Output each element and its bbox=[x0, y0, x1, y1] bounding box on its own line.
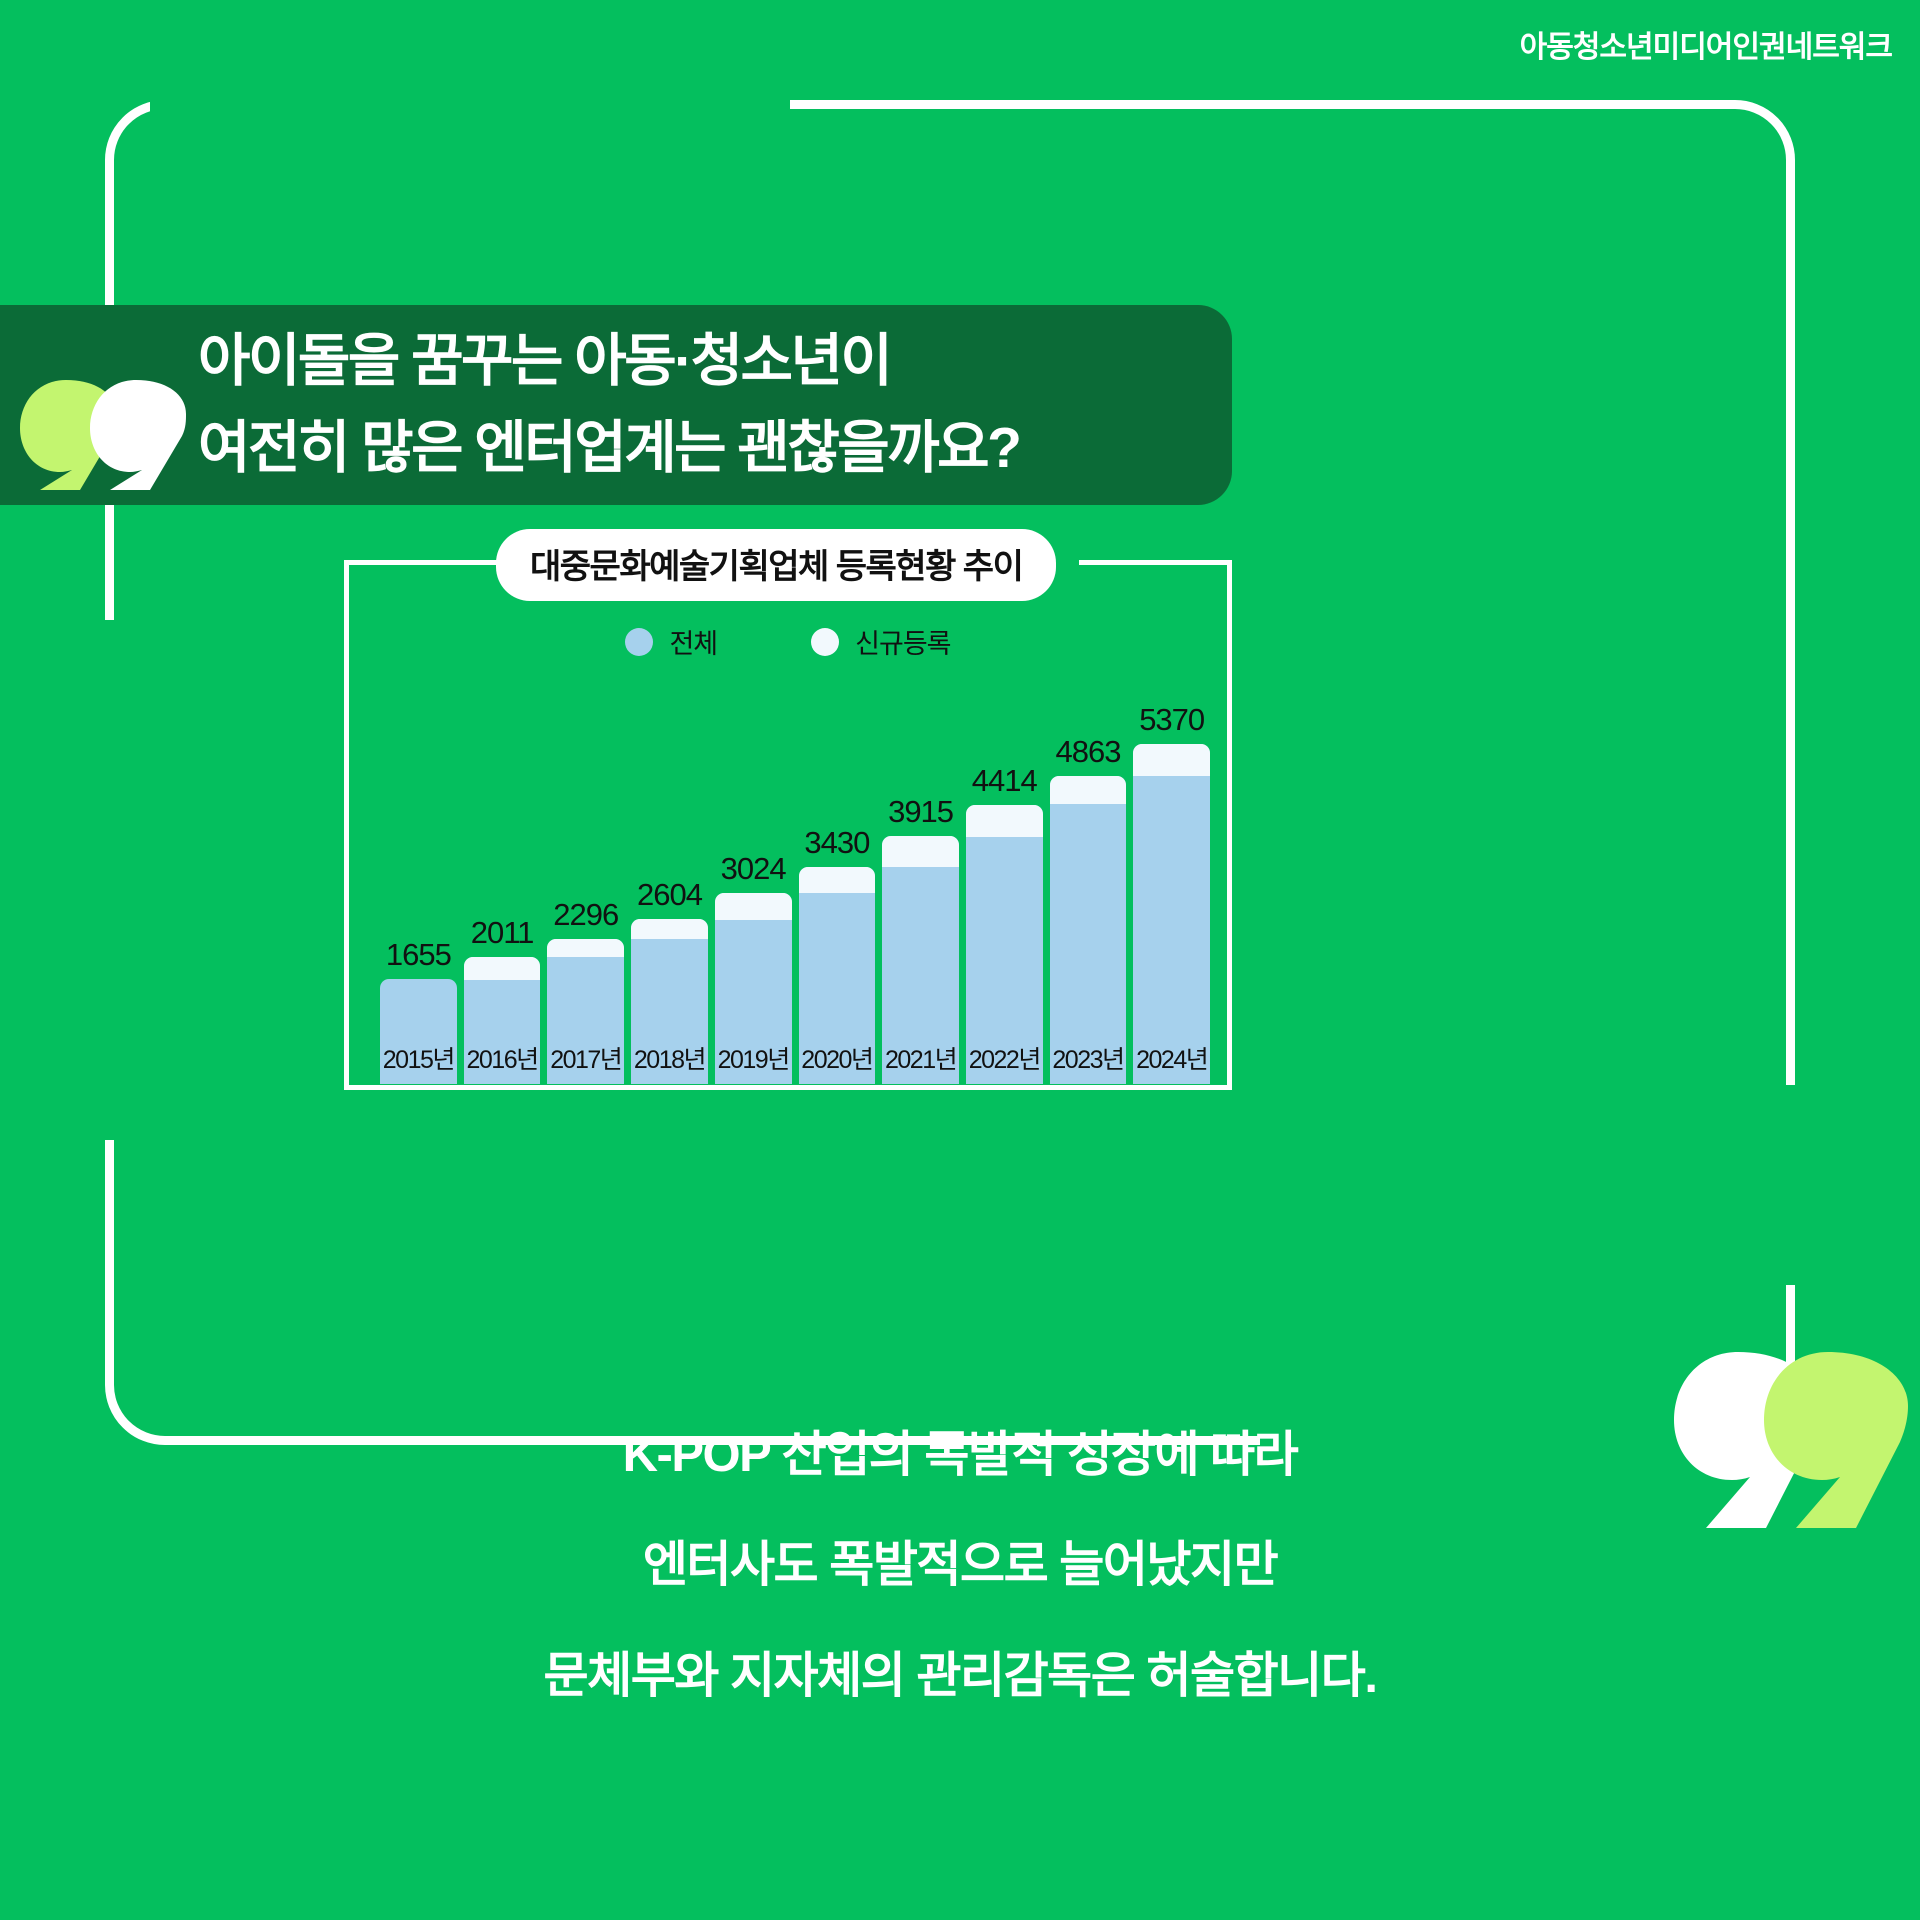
bar-column: 53702024년 bbox=[1133, 684, 1210, 1084]
caption-line-3: 문체부와 지자체의 관리감독은 허술합니다. bbox=[0, 1621, 1920, 1731]
bar: 2017년 bbox=[547, 939, 624, 1084]
chart-legend: 전체 신규등록 bbox=[344, 622, 1232, 661]
bar-value-label: 2604 bbox=[631, 877, 708, 913]
bar-value-label: 1655 bbox=[380, 937, 457, 973]
bar: 2023년 bbox=[1050, 776, 1127, 1084]
headline-text: 아이돌을 꿈꾸는 아동·청소년이 여전히 많은 엔터업계는 괜찮을까요? bbox=[198, 318, 1208, 491]
bar: 2021년 bbox=[882, 836, 959, 1084]
bar-segment-new bbox=[631, 919, 708, 939]
bar-column: 22962017년 bbox=[547, 684, 624, 1084]
quote-open-icon bbox=[18, 380, 188, 490]
chart-plot-area: 16552015년20112016년22962017년26042018년3024… bbox=[380, 684, 1210, 1084]
legend-label-total: 전체 bbox=[669, 622, 717, 661]
legend-dot-new bbox=[811, 628, 839, 656]
caption-block: K-POP 산업의 폭발적 성장에 따라 엔터사도 폭발적으로 늘어났지만 문체… bbox=[0, 1400, 1920, 1731]
frame-gap-right bbox=[1780, 1085, 1810, 1285]
bar-value-label: 4414 bbox=[966, 763, 1043, 799]
bar-segment-new bbox=[1133, 744, 1210, 776]
bar-column: 16552015년 bbox=[380, 684, 457, 1084]
bar-segment-new bbox=[547, 939, 624, 957]
bar-year-label: 2022년 bbox=[966, 1040, 1043, 1076]
bar-value-label: 2296 bbox=[547, 897, 624, 933]
bar: 2018년 bbox=[631, 919, 708, 1084]
bar-year-label: 2024년 bbox=[1133, 1040, 1210, 1076]
bar-year-label: 2020년 bbox=[799, 1040, 876, 1076]
bar-value-label: 2011 bbox=[464, 915, 541, 951]
bar-segment-new bbox=[966, 805, 1043, 837]
bar: 2020년 bbox=[799, 867, 876, 1084]
bar-column: 20112016년 bbox=[464, 684, 541, 1084]
caption-line-1: K-POP 산업의 폭발적 성장에 따라 bbox=[0, 1400, 1920, 1510]
frame-gap-top bbox=[150, 88, 790, 114]
bar-column: 44142022년 bbox=[966, 684, 1043, 1084]
bar-segment-new bbox=[799, 867, 876, 893]
bar-year-label: 2016년 bbox=[464, 1040, 541, 1076]
bar-column: 26042018년 bbox=[631, 684, 708, 1084]
caption-line-2: 엔터사도 폭발적으로 늘어났지만 bbox=[0, 1510, 1920, 1620]
headline-line-2: 여전히 많은 엔터업계는 괜찮을까요? bbox=[198, 405, 1208, 492]
bar-segment-new bbox=[882, 836, 959, 867]
bar: 2015년 bbox=[380, 979, 457, 1084]
bar-value-label: 3915 bbox=[882, 794, 959, 830]
bar-year-label: 2015년 bbox=[380, 1040, 457, 1076]
headline-line-1: 아이돌을 꿈꾸는 아동·청소년이 bbox=[198, 318, 1208, 405]
bar-year-label: 2023년 bbox=[1050, 1040, 1127, 1076]
legend-item-new: 신규등록 bbox=[811, 622, 950, 661]
quote-close-icon bbox=[1660, 1350, 1910, 1530]
bar: 2022년 bbox=[966, 805, 1043, 1084]
bar: 2024년 bbox=[1133, 744, 1210, 1084]
bar-value-label: 4863 bbox=[1050, 734, 1127, 770]
bar-year-label: 2019년 bbox=[715, 1040, 792, 1076]
legend-label-new: 신규등록 bbox=[855, 622, 950, 661]
bar-value-label: 3430 bbox=[799, 825, 876, 861]
bar: 2016년 bbox=[464, 957, 541, 1084]
bar-value-label: 5370 bbox=[1133, 702, 1210, 738]
chart-title: 대중문화예술기획업체 등록현황 추이 bbox=[496, 529, 1056, 601]
bar-column: 34302020년 bbox=[799, 684, 876, 1084]
bar-year-label: 2017년 bbox=[547, 1040, 624, 1076]
bar-year-label: 2021년 bbox=[882, 1040, 959, 1076]
bar-column: 30242019년 bbox=[715, 684, 792, 1084]
bar-column: 48632023년 bbox=[1050, 684, 1127, 1084]
bar-column: 39152021년 bbox=[882, 684, 959, 1084]
chart-container: 대중문화예술기획업체 등록현황 추이 전체 신규등록 16552015년2011… bbox=[344, 560, 1232, 1090]
bar: 2019년 bbox=[715, 893, 792, 1084]
bar-year-label: 2018년 bbox=[631, 1040, 708, 1076]
bar-segment-new bbox=[464, 957, 541, 980]
legend-item-total: 전체 bbox=[625, 622, 717, 661]
brand-title: 아동청소년미디어인권네트워크 bbox=[1520, 22, 1892, 66]
bar-segment-new bbox=[715, 893, 792, 920]
bar-segment-new bbox=[1050, 776, 1127, 804]
legend-dot-total bbox=[625, 628, 653, 656]
bar-value-label: 3024 bbox=[715, 851, 792, 887]
frame-gap-left bbox=[96, 620, 122, 1140]
